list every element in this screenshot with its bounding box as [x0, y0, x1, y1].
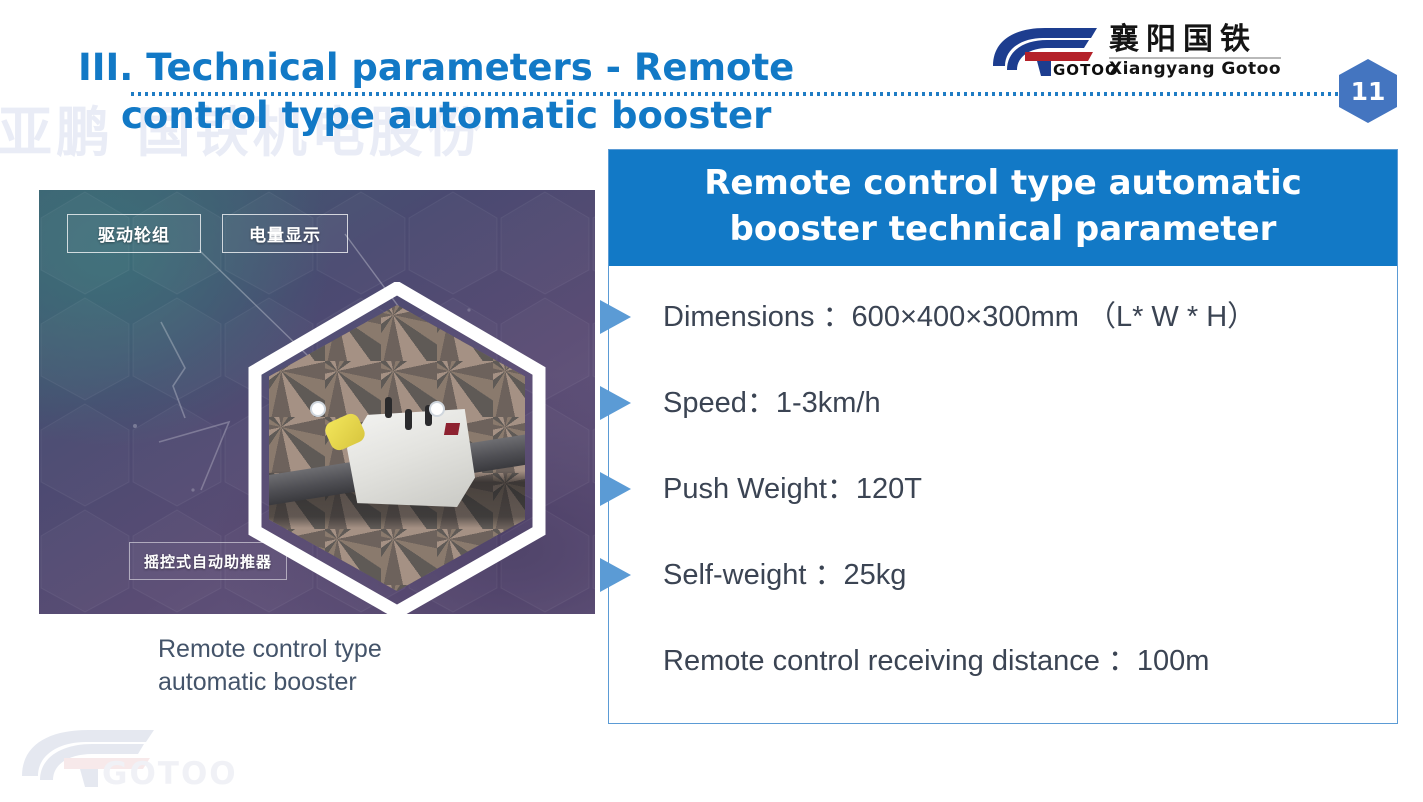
callout-anchor-dot	[310, 401, 326, 417]
figure-caption-line1: Remote control type	[158, 633, 488, 666]
bullet-arrow-icon	[600, 472, 631, 506]
figure-caption-line2: automatic booster	[158, 666, 488, 699]
company-logo: GOTOO 襄阳国铁 Xiangyang Gotoo	[985, 18, 1295, 80]
parameter-row-receiving-distance: Remote control receiving distance ：100m	[609, 618, 1397, 704]
parameter-text: Dimensions ：600×400×300mm （L* W * H）	[663, 299, 1256, 335]
footer-logo: GOTOO	[14, 724, 234, 796]
parameter-row-self-weight: Self-weight ：25kg	[609, 532, 1397, 618]
parameter-text: Speed：1-3km/h	[663, 385, 881, 421]
gotoo-mark-icon: GOTOO	[985, 22, 1103, 80]
panel-body: Dimensions ：600×400×300mm （L* W * H） Spe…	[609, 266, 1397, 704]
page-title-line2: control type automatic booster	[78, 92, 958, 140]
panel-header-line1: Remote control type automatic	[639, 160, 1367, 206]
page-title-line1: III. Technical parameters - Remote	[78, 46, 794, 89]
slide-canvas: 郝亚鹏 国铁机电股份 郝亚鹏 国铁机电股份 III. Technical par…	[0, 0, 1423, 802]
panel-header: Remote control type automatic booster te…	[609, 150, 1397, 266]
gotoo-wordmark: GOTOO	[1053, 61, 1119, 79]
figure-callout-drive-wheel: 驱动轮组	[67, 214, 201, 253]
bullet-arrow-icon	[600, 558, 631, 592]
technical-parameter-panel: Remote control type automatic booster te…	[608, 149, 1398, 724]
page-title: III. Technical parameters - Remote contr…	[78, 44, 958, 140]
callout-anchor-dot	[429, 401, 445, 417]
parameter-row-push-weight: Push Weight：120T	[609, 446, 1397, 532]
bullet-arrow-icon	[600, 386, 631, 420]
company-name-english: Xiangyang Gotoo	[1109, 60, 1281, 79]
company-name-block: 襄阳国铁 Xiangyang Gotoo	[1109, 24, 1281, 80]
page-number-badge: 11	[1339, 59, 1397, 123]
parameter-row-dimensions: Dimensions ：600×400×300mm （L* W * H）	[609, 274, 1397, 360]
parameter-row-speed: Speed：1-3km/h	[609, 360, 1397, 446]
product-image: 驱动轮组 电量显示 摇控式自动助推器	[39, 190, 595, 614]
page-number-value: 11	[1339, 59, 1397, 123]
figure-caption: Remote control type automatic booster	[158, 633, 488, 699]
parameter-text: Remote control receiving distance ：100m	[663, 643, 1209, 679]
company-name-chinese: 襄阳国铁	[1109, 24, 1281, 56]
hexagon-frame	[247, 282, 547, 614]
parameter-text: Self-weight ：25kg	[663, 557, 906, 593]
parameter-text: Push Weight：120T	[663, 471, 922, 507]
device-knob	[405, 409, 412, 430]
device-indicator-led	[444, 423, 460, 435]
footer-logo-text: GOTOO	[102, 756, 238, 792]
bullet-arrow-icon	[600, 300, 631, 334]
device-knob	[385, 397, 392, 418]
figure-callout-battery-display: 电量显示	[222, 214, 348, 253]
panel-header-line2: booster technical parameter	[639, 206, 1367, 252]
